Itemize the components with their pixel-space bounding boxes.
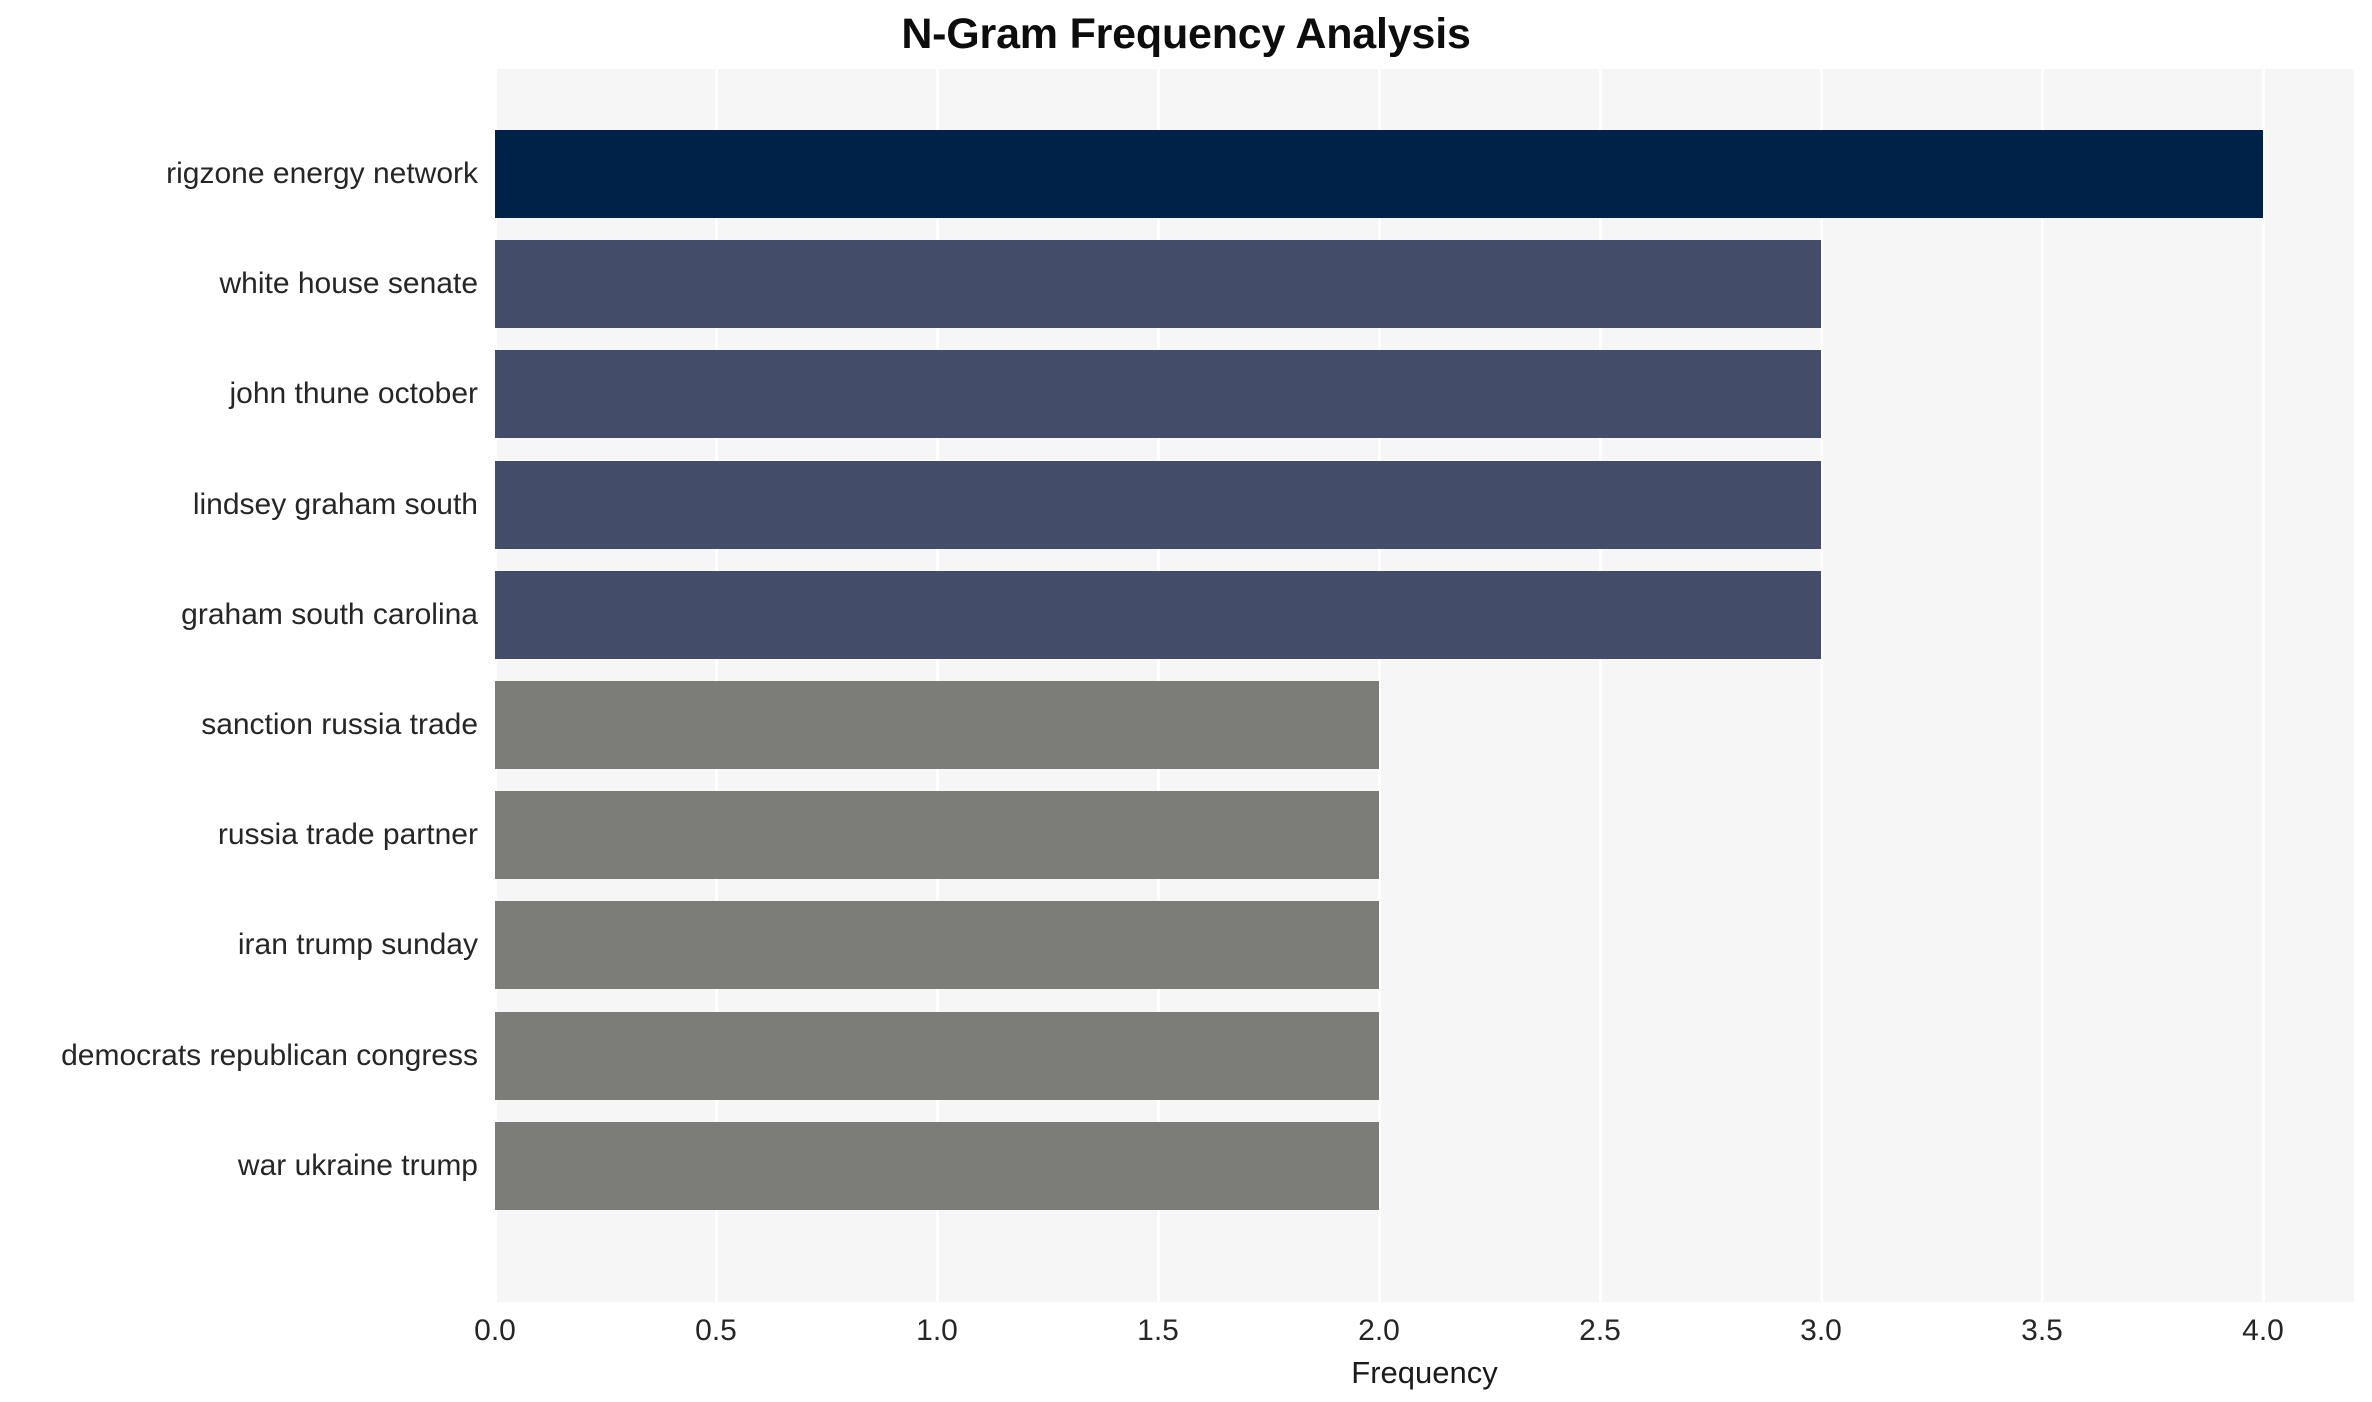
bar xyxy=(495,901,1379,989)
x-axis-tick-label: 4.0 xyxy=(2183,1312,2343,1350)
y-axis-tick-label: rigzone energy network xyxy=(0,156,478,192)
y-axis-tick-label: russia trade partner xyxy=(0,817,478,853)
y-axis-tick-label: graham south carolina xyxy=(0,597,478,633)
gridline-x-4.0 xyxy=(2262,69,2265,1302)
bar xyxy=(495,130,2263,218)
bar xyxy=(495,1012,1379,1100)
y-axis-tick-label: white house senate xyxy=(0,266,478,302)
y-axis-tick-label: lindsey graham south xyxy=(0,487,478,523)
chart-figure: N-Gram Frequency Analysis rigzone energy… xyxy=(0,0,2372,1402)
bar xyxy=(495,681,1379,769)
bar xyxy=(495,240,1821,328)
plot-area xyxy=(495,69,2354,1302)
x-axis-tick-label: 2.5 xyxy=(1520,1312,1680,1350)
bar xyxy=(495,791,1379,879)
x-axis-tick-label: 3.5 xyxy=(1962,1312,2122,1350)
x-axis-tick-label: 3.0 xyxy=(1741,1312,1901,1350)
x-axis-tick-label: 1.0 xyxy=(857,1312,1017,1350)
y-axis-tick-label: john thune october xyxy=(0,376,478,412)
bar xyxy=(495,1122,1379,1210)
y-axis-tick-label: war ukraine trump xyxy=(0,1148,478,1184)
x-axis-label: Frequency xyxy=(495,1354,2354,1392)
y-axis-tick-label: iran trump sunday xyxy=(0,927,478,963)
bar xyxy=(495,461,1821,549)
y-axis-tick-label: sanction russia trade xyxy=(0,707,478,743)
chart-title: N-Gram Frequency Analysis xyxy=(0,8,2372,60)
x-axis-tick-label: 0.0 xyxy=(415,1312,575,1350)
gridline-x-3.5 xyxy=(2041,69,2044,1302)
y-axis-tick-label: democrats republican congress xyxy=(0,1038,478,1074)
bar xyxy=(495,350,1821,438)
bar xyxy=(495,571,1821,659)
x-axis-tick-label: 0.5 xyxy=(636,1312,796,1350)
x-axis-tick-label: 2.0 xyxy=(1299,1312,1459,1350)
x-axis-tick-label: 1.5 xyxy=(1078,1312,1238,1350)
